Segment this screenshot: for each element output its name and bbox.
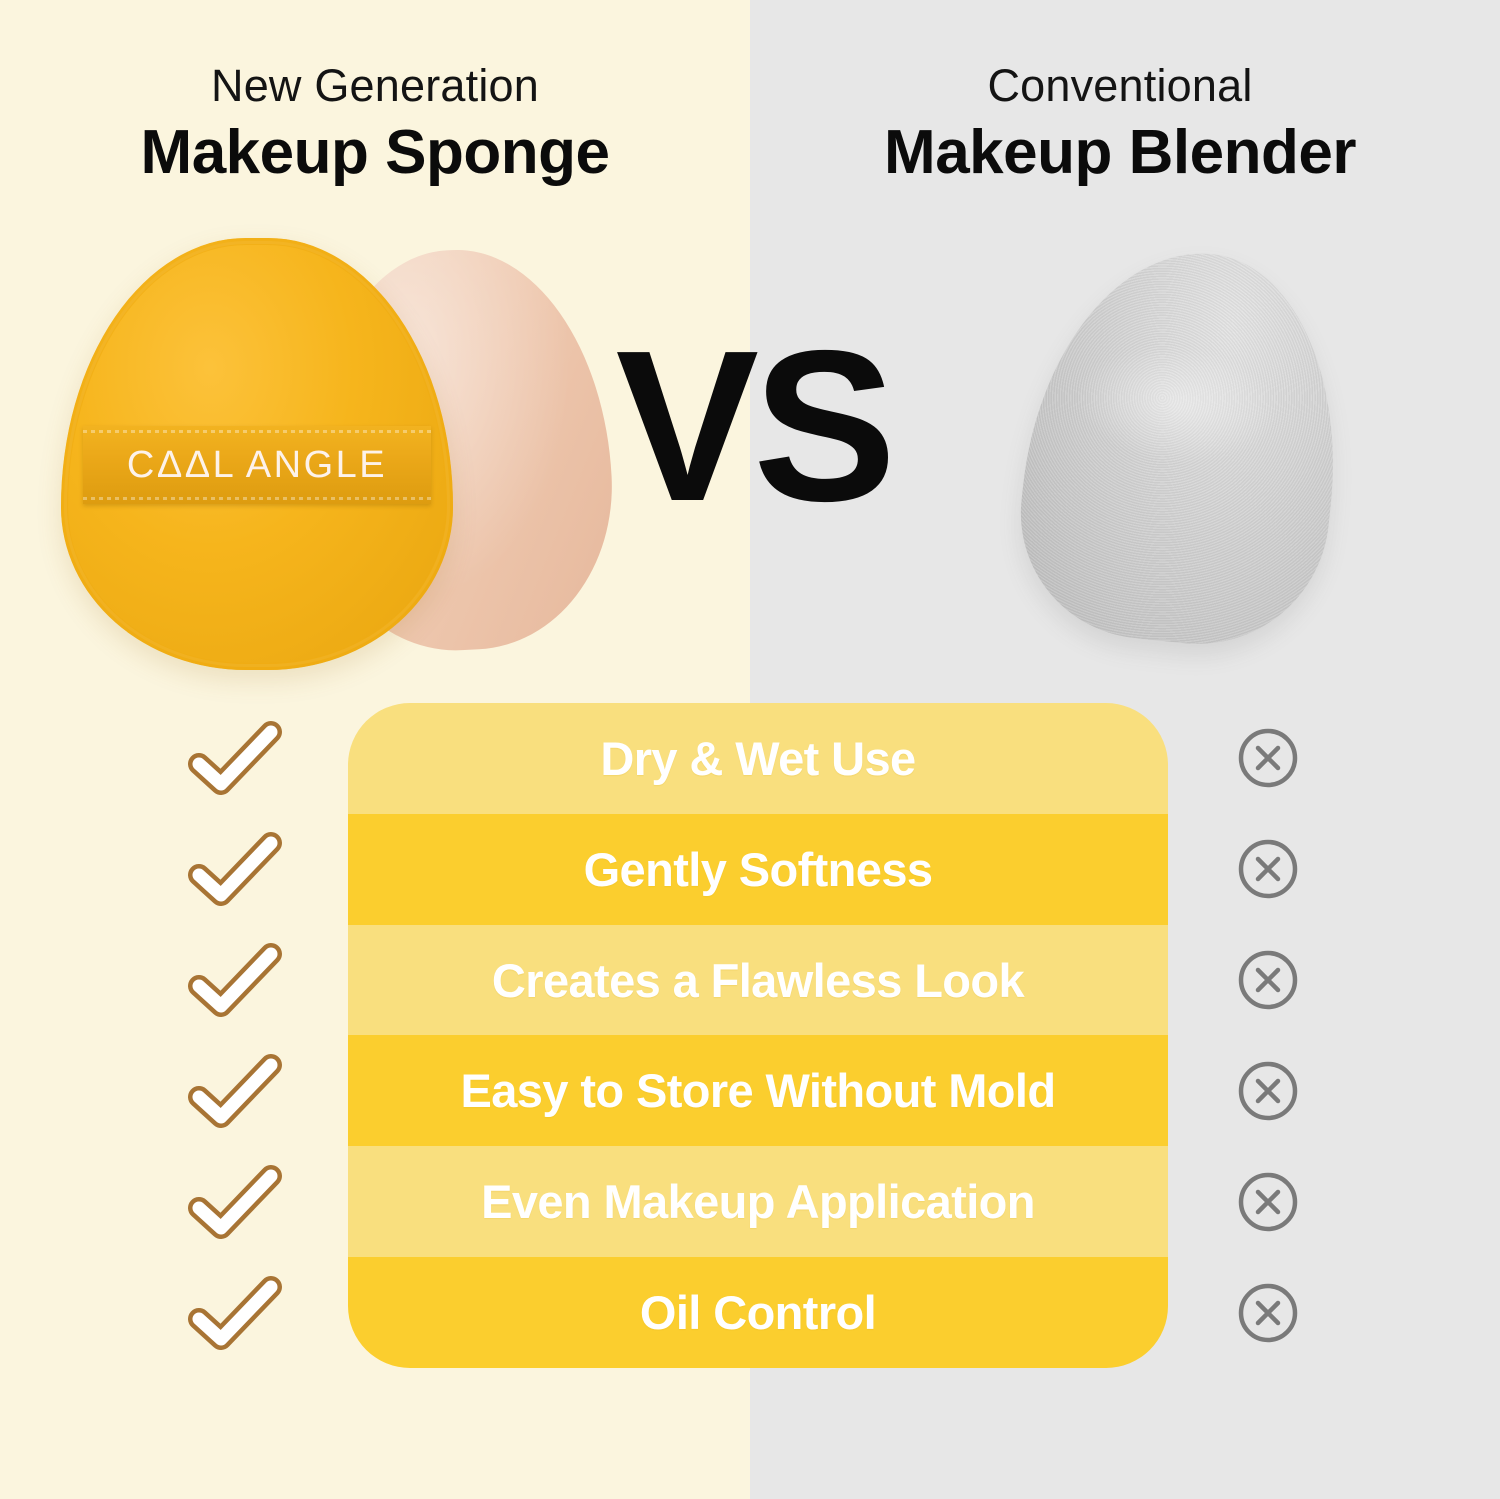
check-icon: [187, 1053, 283, 1129]
feature-comparison-card: Dry & Wet UseGently SoftnessCreates a Fl…: [348, 703, 1168, 1368]
blender-unsupported-mark: [1208, 814, 1328, 925]
makeup-sponge-product-image: CΔΔL ANGLE: [55, 232, 575, 682]
blender-unsupported-mark: [1208, 1257, 1328, 1368]
feature-label: Easy to Store Without Mold: [461, 1063, 1056, 1118]
check-mark-column: [170, 703, 300, 1368]
right-kicker: Conventional: [790, 62, 1450, 110]
feature-label: Dry & Wet Use: [600, 731, 915, 786]
blender-unsupported-mark: [1208, 703, 1328, 814]
circle-x-icon: [1236, 948, 1300, 1012]
feature-row: Dry & Wet Use: [348, 703, 1168, 814]
sponge-supported-mark: [170, 1146, 300, 1257]
blender-unsupported-mark: [1208, 925, 1328, 1036]
sponge-supported-mark: [170, 814, 300, 925]
brand-ribbon-strap: CΔΔL ANGLE: [83, 426, 431, 504]
feature-row: Creates a Flawless Look: [348, 925, 1168, 1036]
feature-label: Oil Control: [640, 1285, 876, 1340]
feature-row: Oil Control: [348, 1257, 1168, 1368]
left-kicker: New Generation: [25, 62, 725, 110]
versus-label: VS: [583, 318, 923, 533]
left-headline: Makeup Sponge: [25, 118, 725, 187]
check-icon: [187, 1275, 283, 1351]
feature-label: Creates a Flawless Look: [492, 953, 1024, 1008]
blender-unsupported-mark: [1208, 1035, 1328, 1146]
left-column-header: New Generation Makeup Sponge: [25, 62, 725, 187]
feature-label: Even Makeup Application: [481, 1174, 1035, 1229]
check-icon: [187, 720, 283, 796]
sponge-supported-mark: [170, 1035, 300, 1146]
comparison-infographic: New Generation Makeup Sponge Conventiona…: [0, 0, 1500, 1499]
blender-unsupported-mark: [1208, 1146, 1328, 1257]
circle-x-icon: [1236, 837, 1300, 901]
right-headline: Makeup Blender: [790, 118, 1450, 187]
feature-row: Easy to Store Without Mold: [348, 1035, 1168, 1146]
circle-x-icon: [1236, 1170, 1300, 1234]
brand-name-label: CΔΔL ANGLE: [127, 444, 387, 487]
check-icon: [187, 942, 283, 1018]
check-icon: [187, 831, 283, 907]
feature-label: Gently Softness: [584, 842, 933, 897]
sponge-supported-mark: [170, 1257, 300, 1368]
circle-x-icon: [1236, 1281, 1300, 1345]
circle-x-icon: [1236, 726, 1300, 790]
right-column-header: Conventional Makeup Blender: [790, 62, 1450, 187]
cross-mark-column: [1208, 703, 1328, 1368]
circle-x-icon: [1236, 1059, 1300, 1123]
sponge-supported-mark: [170, 925, 300, 1036]
feature-row: Even Makeup Application: [348, 1146, 1168, 1257]
sponge-supported-mark: [170, 703, 300, 814]
check-icon: [187, 1164, 283, 1240]
feature-row: Gently Softness: [348, 814, 1168, 925]
